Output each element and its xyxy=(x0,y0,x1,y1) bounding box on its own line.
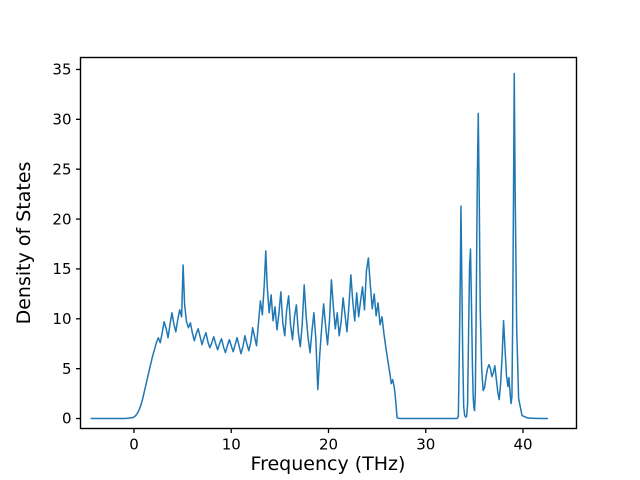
y-tick-label: 30 xyxy=(52,111,71,129)
y-tick-label: 25 xyxy=(52,160,71,178)
y-tick-label: 15 xyxy=(52,260,71,278)
dos-curve-group xyxy=(91,73,547,418)
y-tick-label: 5 xyxy=(62,360,72,378)
x-tick-label: 30 xyxy=(416,436,435,454)
y-tick-label: 0 xyxy=(62,410,72,428)
x-tick-label: 10 xyxy=(222,436,241,454)
x-tick-label: 40 xyxy=(513,436,532,454)
y-tick-group: 05101520253035 xyxy=(52,61,80,428)
x-tick-group: 010203040 xyxy=(129,429,532,454)
plot-frame xyxy=(81,58,577,429)
x-tick-label: 0 xyxy=(129,436,139,454)
y-tick-label: 20 xyxy=(52,210,71,228)
dos-curve xyxy=(91,73,547,418)
y-tick-label: 10 xyxy=(52,310,71,328)
dos-plot: 010203040 05101520253035 Frequency (THz)… xyxy=(0,0,640,480)
figure-canvas: 010203040 05101520253035 Frequency (THz)… xyxy=(0,0,640,480)
x-axis-label: Frequency (THz) xyxy=(251,453,406,475)
x-tick-label: 20 xyxy=(319,436,338,454)
y-tick-label: 35 xyxy=(52,61,71,79)
y-axis-label: Density of States xyxy=(13,162,35,325)
